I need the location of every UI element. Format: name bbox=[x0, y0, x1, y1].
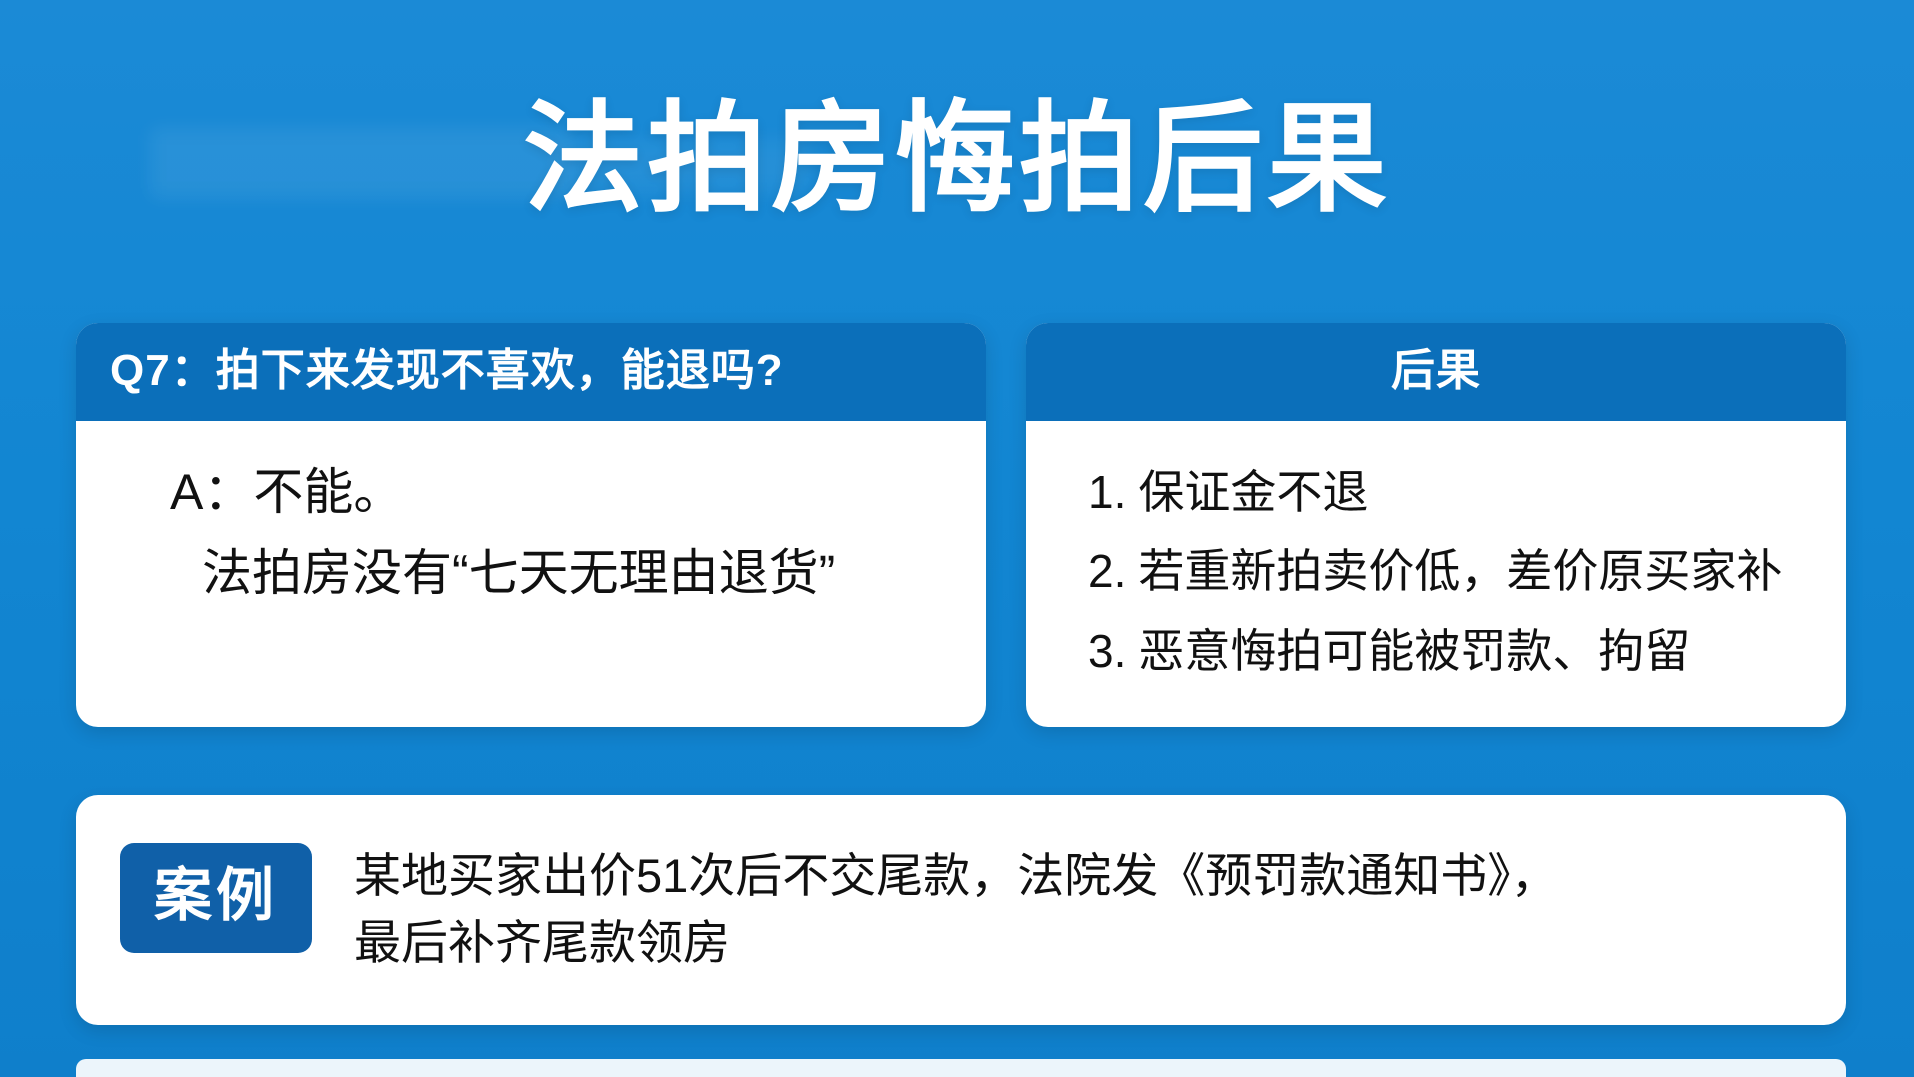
page-title: 法拍房悔拍后果 bbox=[0, 92, 1914, 226]
question-card: Q7：拍下来发现不喜欢，能退吗? A：不能。 法拍房没有“七天无理由退货” bbox=[76, 323, 986, 727]
list-item-number: 3. bbox=[1088, 620, 1126, 683]
case-card-text: 某地买家出价51次后不交尾款，法院发《预罚款通知书》， 最后补齐尾款领房 bbox=[354, 839, 1558, 976]
question-card-header: Q7：拍下来发现不喜欢，能退吗? bbox=[76, 323, 986, 421]
list-item: 2. 若重新拍卖价低，差价原买家补 bbox=[1088, 540, 1806, 603]
bottom-cutoff-strip bbox=[76, 1059, 1846, 1077]
consequence-list: 1. 保证金不退 2. 若重新拍卖价低，差价原买家补 3. 恶意悔拍可能被罚款、… bbox=[1066, 461, 1806, 683]
case-card: 案例 某地买家出价51次后不交尾款，法院发《预罚款通知书》， 最后补齐尾款领房 bbox=[76, 795, 1846, 1025]
consequence-card: 后果 1. 保证金不退 2. 若重新拍卖价低，差价原买家补 3. 恶意悔拍可能被… bbox=[1026, 323, 1846, 727]
list-item-label: 若重新拍卖价低，差价原买家补 bbox=[1138, 540, 1782, 603]
answer-line-primary: A：不能。 bbox=[116, 461, 946, 524]
list-item-label: 保证金不退 bbox=[1138, 461, 1368, 524]
case-text-line-2: 最后补齐尾款领房 bbox=[354, 910, 1558, 977]
consequence-card-body: 1. 保证金不退 2. 若重新拍卖价低，差价原买家补 3. 恶意悔拍可能被罚款、… bbox=[1026, 421, 1846, 727]
list-item-label: 恶意悔拍可能被罚款、拘留 bbox=[1138, 620, 1690, 683]
case-badge: 案例 bbox=[120, 843, 312, 953]
case-text-line-1: 某地买家出价51次后不交尾款，法院发《预罚款通知书》， bbox=[354, 843, 1558, 910]
question-card-body: A：不能。 法拍房没有“七天无理由退货” bbox=[76, 421, 986, 727]
list-item: 1. 保证金不退 bbox=[1088, 461, 1806, 524]
list-item: 3. 恶意悔拍可能被罚款、拘留 bbox=[1088, 620, 1806, 683]
poster-root: 法拍房悔拍后果 Q7：拍下来发现不喜欢，能退吗? A：不能。 法拍房没有“七天无… bbox=[0, 0, 1914, 1077]
list-item-number: 2. bbox=[1088, 540, 1126, 603]
consequence-card-header: 后果 bbox=[1026, 323, 1846, 421]
card-row: Q7：拍下来发现不喜欢，能退吗? A：不能。 法拍房没有“七天无理由退货” 后果… bbox=[76, 323, 1846, 727]
list-item-number: 1. bbox=[1088, 461, 1126, 524]
answer-line-secondary: 法拍房没有“七天无理由退货” bbox=[116, 542, 946, 605]
